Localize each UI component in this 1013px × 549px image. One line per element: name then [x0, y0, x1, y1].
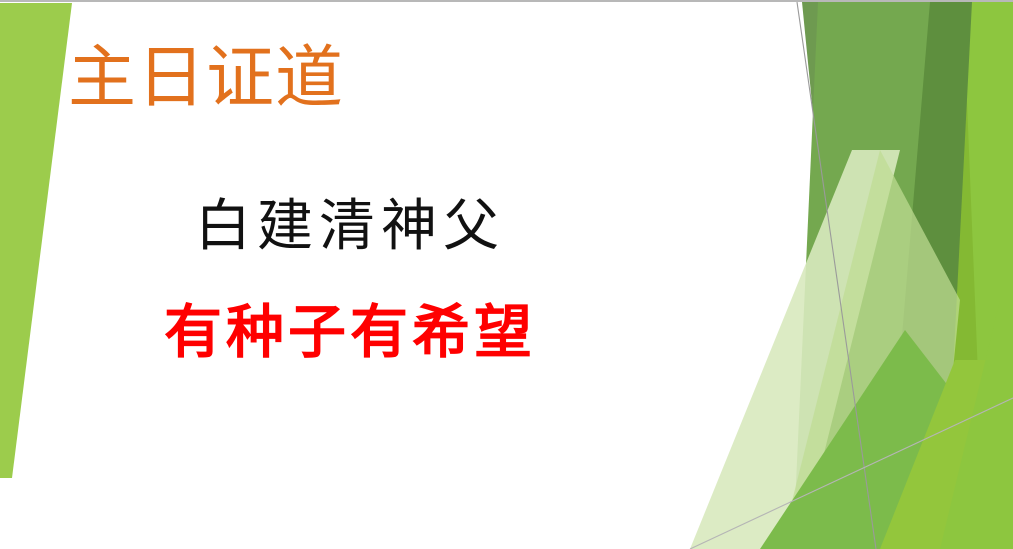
slide-title: 主日证道: [68, 40, 344, 116]
presentation-slide: 主日证道 白建清神父 有种子有希望: [0, 0, 1013, 549]
slide-text-layer: 主日证道 白建清神父 有种子有希望: [0, 0, 1013, 549]
speaker-name: 白建清神父: [0, 195, 700, 259]
sermon-theme: 有种子有希望: [0, 300, 700, 367]
slide-top-rule: [0, 0, 1013, 2]
